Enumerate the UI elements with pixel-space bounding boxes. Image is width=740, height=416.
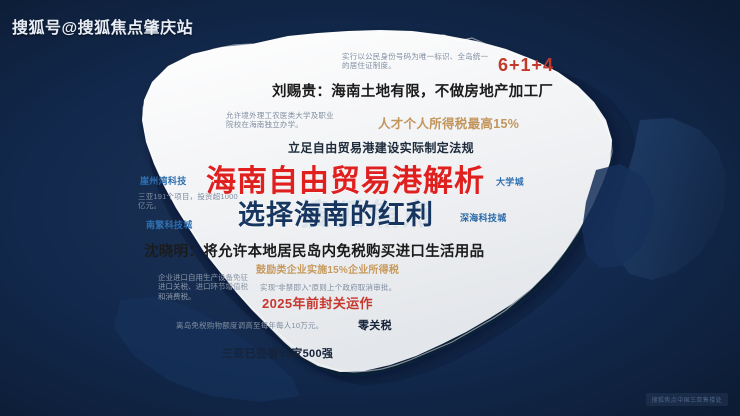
callout-deepsea-city: 深海科技城 <box>460 213 507 224</box>
poster-title-main: 海南自由贸易港解析 <box>206 163 485 201</box>
callout-sanya-fortune500: 三亚已签署51家500强 <box>222 348 333 362</box>
poster-canvas: 搜狐焦点 实行以公民身份号码为唯一标识、全岛统一的居住证制度。 6+1+4 刘赐… <box>0 0 740 416</box>
callout-non-prohibited-entry: 实现“非禁即入”原则上个政府取消审批。 <box>260 283 448 292</box>
callout-enterprise-tax: 鼓励类企业实施15%企业所得税 <box>256 265 399 278</box>
callout-closed-operation-2025: 2025年前封关运作 <box>262 296 373 312</box>
callout-duty-free-quota: 离岛免税购物额度调高至每年每人10万元。 <box>176 321 356 330</box>
callout-nanfan-city: 南繁科技城 <box>146 220 193 231</box>
callout-layer: 实行以公民身份号码为唯一标识、全岛统一的居住证制度。 6+1+4 刘赐贵：海南土… <box>0 0 740 416</box>
callout-yazhou-bay: 崖州湾科技 <box>140 176 187 187</box>
callout-import-equipment: 企业进口自用生产设备免征进口关税、进口环节增值税和消费税。 <box>158 273 250 301</box>
callout-residence-permit: 实行以公民身份号码为唯一标识、全岛统一的居住证制度。 <box>342 52 492 71</box>
callout-local-regulations: 立足自由贸易港建设实际制定法规 <box>288 141 474 156</box>
source-watermark: 搜狐焦点中国三亚售楼处 <box>646 393 728 406</box>
callout-talent-tax: 人才个人所得税最高15% <box>378 117 519 133</box>
account-handle: 搜狐号@搜狐焦点肇庆站 <box>12 14 193 38</box>
callout-six-one-four: 6+1+4 <box>498 54 554 77</box>
callout-liu-ci-gui: 刘赐贵：海南土地有限，不做房地产加工厂 <box>272 83 553 101</box>
callout-foreign-university: 允许境外理工农医类大学及职业院校在海南独立办学。 <box>226 111 336 130</box>
callout-university-town: 大学城 <box>496 177 524 188</box>
callout-zero-tariff: 零关税 <box>358 320 392 334</box>
poster-title-sub: 选择海南的红利 <box>238 199 434 233</box>
callout-shen-xiao-ming: 沈晓明：将允许本地居民岛内免税购买进口生活用品 <box>144 243 484 261</box>
